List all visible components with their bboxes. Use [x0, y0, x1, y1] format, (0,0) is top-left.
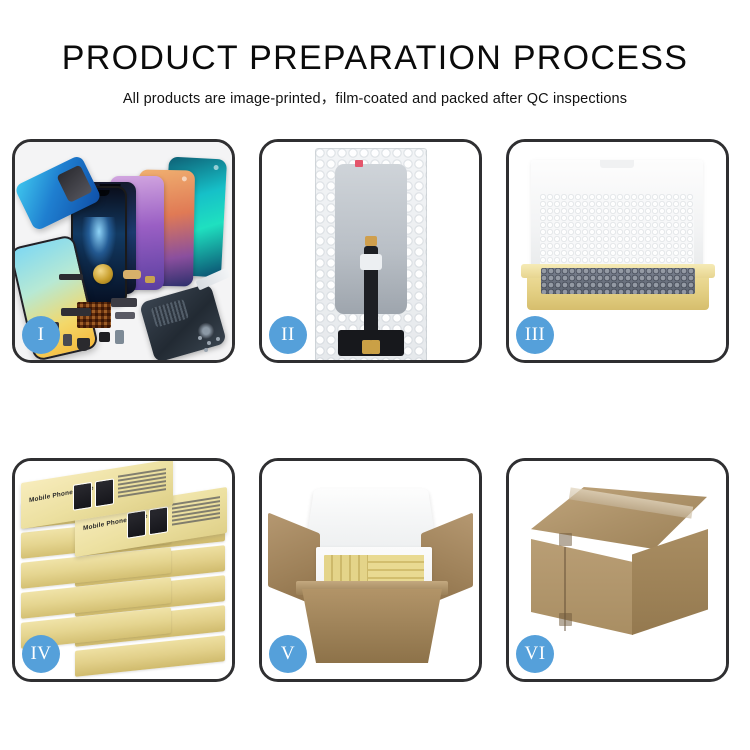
wallpaper-graphic [82, 217, 116, 269]
part-icon [99, 332, 110, 342]
box-screen-print-icon [149, 506, 168, 535]
step-panel-5: V [259, 458, 482, 682]
product-preparation-infographic: PRODUCT PREPARATION PROCESS All products… [0, 0, 750, 750]
step-panel-3: III [506, 139, 729, 363]
box-screen-print-icon [73, 482, 92, 511]
carton-handle-notch-icon [559, 613, 572, 626]
screws-group-icon [198, 336, 224, 354]
step-panel-1: I [12, 139, 235, 363]
part-icon [63, 334, 72, 346]
page-subtitle: All products are image-printed，film-coat… [0, 78, 750, 108]
box-screen-print-icon [95, 478, 114, 507]
step-badge-3: III [516, 316, 554, 354]
gold-contact-icon [370, 340, 380, 354]
step-badge-5: V [269, 635, 307, 673]
step-badge-4: IV [22, 635, 60, 673]
punch-hole-icon [213, 165, 218, 170]
foam-box-lid-icon [305, 488, 437, 548]
carton-handle-notch-icon [559, 533, 572, 546]
gold-contact-icon [365, 236, 377, 246]
step-panel-2: II [259, 139, 482, 363]
speaker-coil-icon [93, 264, 113, 284]
yellow-box-tray-icon [527, 270, 709, 310]
part-icon [59, 274, 83, 280]
step-badge-2: II [269, 316, 307, 354]
flex-cable-icon [364, 246, 378, 342]
bubble-wrapped-contents-icon [541, 268, 695, 294]
box-screen-print-icon [127, 510, 146, 539]
part-icon [61, 308, 91, 316]
shipping-carton-icon [302, 589, 442, 663]
part-icon [77, 338, 90, 351]
box-spec-lines-icon [118, 468, 166, 504]
box-spec-lines-icon [172, 496, 220, 532]
part-icon [115, 312, 135, 319]
bubble-wrap-bag-icon [315, 148, 427, 360]
red-tab-icon [355, 160, 363, 167]
connector-board-icon [338, 330, 404, 356]
step-panel-4: Mobile Phone Spare Parts Mobile Phone Sp… [12, 458, 235, 682]
part-icon [115, 330, 124, 344]
step-panel-6: VI [506, 458, 729, 682]
step-badge-1: I [22, 316, 60, 354]
part-icon [111, 298, 137, 307]
process-steps-grid: I II [12, 139, 738, 684]
header: PRODUCT PREPARATION PROCESS All products… [0, 0, 750, 108]
part-icon [123, 270, 141, 279]
punch-hole-icon [182, 176, 187, 181]
step-badge-6: VI [516, 635, 554, 673]
part-icon [145, 276, 155, 283]
page-title: PRODUCT PREPARATION PROCESS [0, 0, 750, 78]
foam-lid-icon [531, 160, 703, 278]
